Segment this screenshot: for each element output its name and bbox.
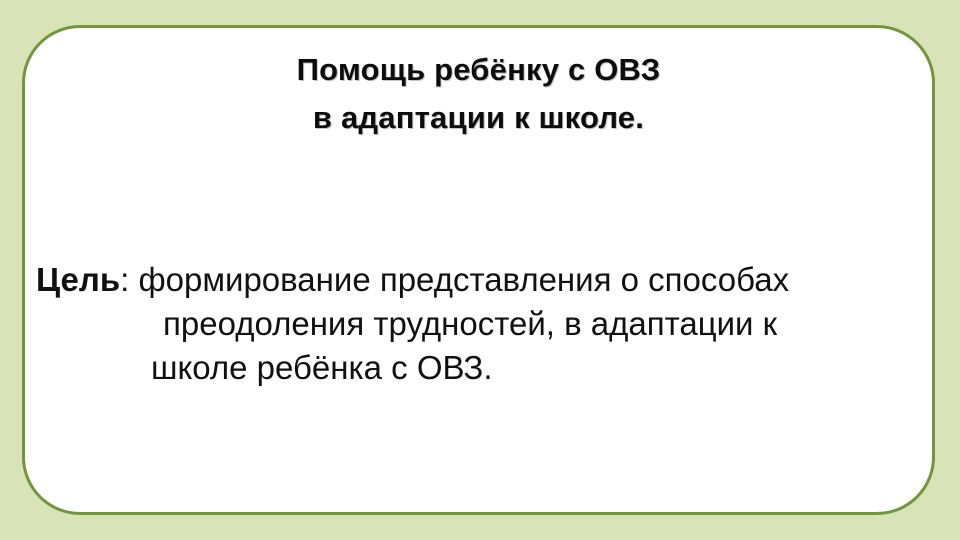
body-line-1: Цель: формирование представления о спосо… [25, 258, 932, 302]
slide-title: Помощь ребёнку с ОВЗ в адаптации к школе… [25, 46, 932, 142]
body-line-3: школе ребёнка с ОВЗ. [25, 346, 932, 390]
slide-body: Цель: формирование представления о спосо… [25, 258, 932, 390]
body-line-2: преодоления трудностей, в адаптации к [25, 302, 932, 346]
content-card: Помощь ребёнку с ОВЗ в адаптации к школе… [22, 25, 935, 515]
title-line-2: в адаптации к школе. [25, 94, 932, 142]
body-goal-label: Цель [36, 261, 120, 298]
title-line-1: Помощь ребёнку с ОВЗ [25, 46, 932, 94]
slide: Помощь ребёнку с ОВЗ в адаптации к школе… [0, 0, 960, 540]
card-inner: Помощь ребёнку с ОВЗ в адаптации к школе… [25, 28, 932, 512]
body-line-1-text: : формирование представления о способах [120, 261, 789, 298]
